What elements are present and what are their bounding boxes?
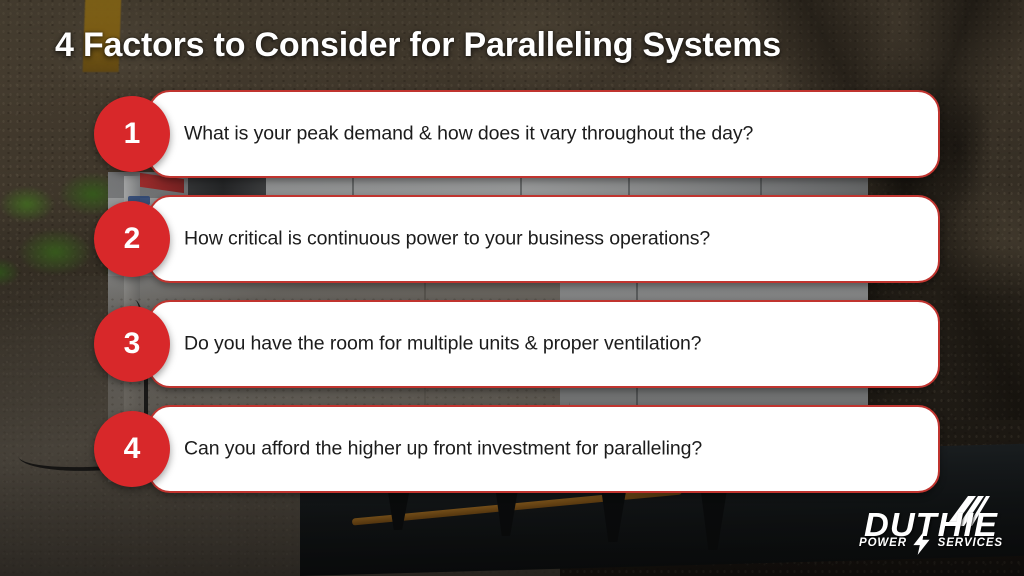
factor-card[interactable]: Do you have the room for multiple units … (148, 300, 940, 388)
factor-text: How critical is continuous power to your… (184, 228, 710, 251)
factor-number-badge: 4 (94, 411, 170, 487)
list-item[interactable]: How critical is continuous power to your… (0, 195, 1024, 283)
list-item[interactable]: Do you have the room for multiple units … (0, 300, 1024, 388)
logo-tagline: POWER SERVICES (856, 530, 1006, 556)
factor-card[interactable]: What is your peak demand & how does it v… (148, 90, 940, 178)
factor-number-badge: 1 (94, 96, 170, 172)
infographic-canvas: 4 Factors to Consider for Paralleling Sy… (0, 0, 1024, 576)
factors-list: What is your peak demand & how does it v… (0, 90, 1024, 510)
list-item[interactable]: What is your peak demand & how does it v… (0, 90, 1024, 178)
factor-text: Do you have the room for multiple units … (184, 333, 701, 356)
factor-number-badge: 3 (94, 306, 170, 382)
factor-card[interactable]: Can you afford the higher up front inves… (148, 405, 940, 493)
factor-text: What is your peak demand & how does it v… (184, 123, 753, 146)
logo-right-word: SERVICES (938, 537, 1003, 549)
factor-text: Can you afford the higher up front inves… (184, 438, 702, 461)
lightning-bolt-icon (909, 530, 935, 556)
factor-number-badge: 2 (94, 201, 170, 277)
factor-card[interactable]: How critical is continuous power to your… (148, 195, 940, 283)
page-title: 4 Factors to Consider for Paralleling Sy… (55, 26, 781, 65)
brand-logo[interactable]: DUTHIE POWER SERVICES (856, 500, 1006, 562)
list-item[interactable]: Can you afford the higher up front inves… (0, 405, 1024, 493)
logo-left-word: POWER (859, 537, 907, 549)
